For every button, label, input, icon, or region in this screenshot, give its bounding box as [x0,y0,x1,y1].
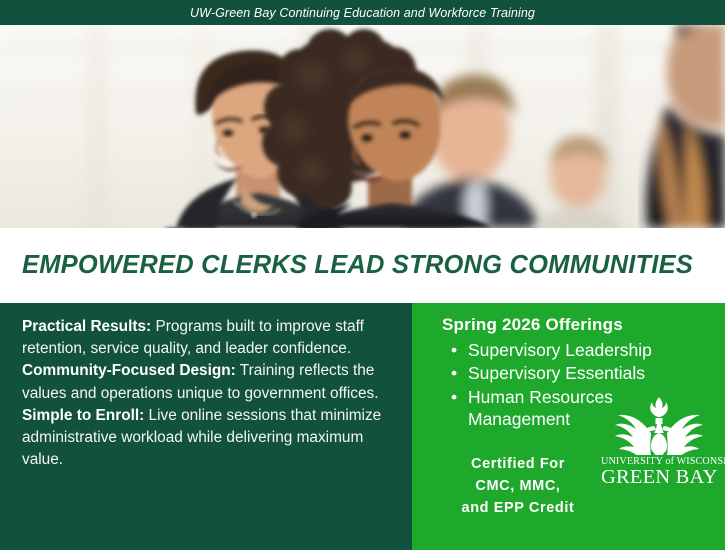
benefit-item: Simple to Enroll: Live online sessions t… [22,405,384,472]
bullet-icon: • [451,362,457,384]
uwgb-logo: UNIVERSITY of WISCONSIN GREEN BAY [601,395,717,489]
list-item: •Supervisory Leadership [468,339,717,361]
offerings-panel: Spring 2026 Offerings •Supervisory Leade… [404,303,725,550]
bullet-icon: • [451,386,457,408]
benefits-panel: Practical Results: Programs built to imp… [0,303,404,550]
list-item-label: Supervisory Leadership [468,340,652,360]
hero-photo [0,25,725,228]
benefit-item: Practical Results: Programs built to imp… [22,316,384,360]
offerings-title: Spring 2026 Offerings [412,315,725,335]
list-item-label: Human Resources Management [468,387,613,429]
certification-line-2: CMC, MMC, [418,475,618,497]
certification-note: Certified For CMC, MMC, and EPP Credit [418,453,618,519]
hero-photo-illustration [0,25,725,228]
content-panels: Practical Results: Programs built to imp… [0,303,725,550]
bullet-icon: • [451,339,457,361]
benefit-lead: Simple to Enroll: [22,407,144,424]
top-banner-text: UW-Green Bay Continuing Education and Wo… [190,6,535,20]
logo-campus-text: GREEN BAY [601,467,717,489]
phoenix-torch-icon [613,395,705,455]
list-item: •Supervisory Essentials [468,362,717,384]
certification-line-3: and EPP Credit [418,497,618,519]
page-title: EMPOWERED CLERKS LEAD STRONG COMMUNITIES [22,251,693,280]
top-banner: UW-Green Bay Continuing Education and Wo… [0,0,725,25]
headline-band: EMPOWERED CLERKS LEAD STRONG COMMUNITIES [0,228,725,303]
benefit-item: Community-Focused Design: Training refle… [22,360,384,404]
benefit-lead: Practical Results: [22,318,151,335]
benefits-copy: Practical Results: Programs built to imp… [22,316,384,471]
list-item-label: Supervisory Essentials [468,363,645,383]
benefit-lead: Community-Focused Design: [22,362,236,379]
certification-line-1: Certified For [418,453,618,475]
